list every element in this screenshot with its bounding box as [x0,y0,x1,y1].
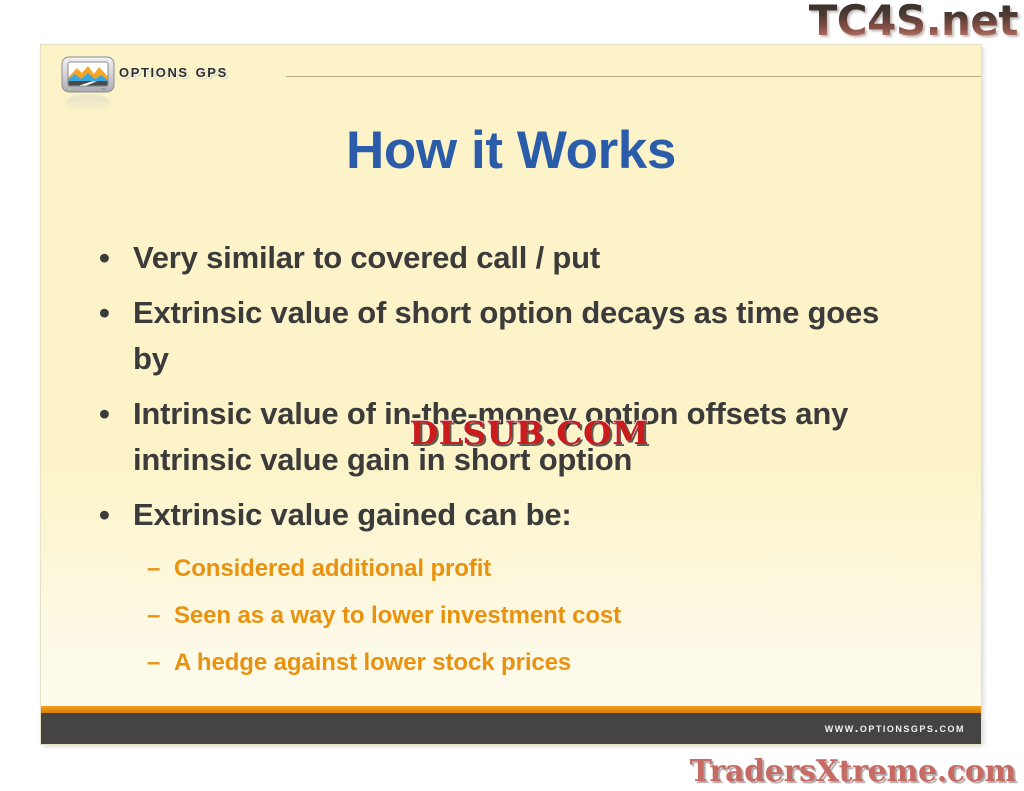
bullet-text: Extrinsic value of short option decays a… [133,290,923,382]
bullet-marker-icon: • [99,391,133,437]
gps-icon-reflection [65,95,111,111]
watermark-dlsub: DLSUB.COM [410,414,650,452]
sub-bullet-text: A hedge against lower stock prices [174,641,571,685]
bullet-list: • Very similar to covered call / put • E… [41,235,981,688]
sub-bullet-marker-icon: – [147,594,174,638]
list-item: • Extrinsic value of short option decays… [41,290,981,382]
list-item: • Very similar to covered call / put [41,235,981,281]
sub-bullet-text: Considered additional profit [174,547,491,591]
bullet-marker-icon: • [99,290,133,336]
list-item: • Extrinsic value gained can be: [41,492,981,538]
watermark-tc4s: TC4S.net [809,0,1018,45]
sub-list-item: – A hedge against lower stock prices [41,641,981,685]
footer-url: www.OptionsGPS.com [825,720,965,735]
gps-device-icon [61,55,115,95]
sub-bullet-marker-icon: – [147,547,174,591]
header-divider [286,76,981,77]
presentation-slide: Options GPS How it Works • Very similar … [41,45,981,744]
sub-list-item: – Considered additional profit [41,547,981,591]
sub-bullet-text: Seen as a way to lower investment cost [174,594,621,638]
watermark-tradersxtreme: TradersXtreme.com [690,754,1016,789]
bullet-marker-icon: • [99,235,133,281]
footer-accent-bar [41,706,981,713]
bullet-text: Extrinsic value gained can be: [133,492,572,538]
slide-footer: www.OptionsGPS.com [41,713,981,744]
brand-name: Options GPS [119,61,228,83]
bullet-text: Very similar to covered call / put [133,235,600,281]
slide-header: Options GPS [41,45,981,103]
sub-bullet-marker-icon: – [147,641,174,685]
page-title: How it Works [41,120,981,181]
sub-list-item: – Seen as a way to lower investment cost [41,594,981,638]
bullet-marker-icon: • [99,492,133,538]
